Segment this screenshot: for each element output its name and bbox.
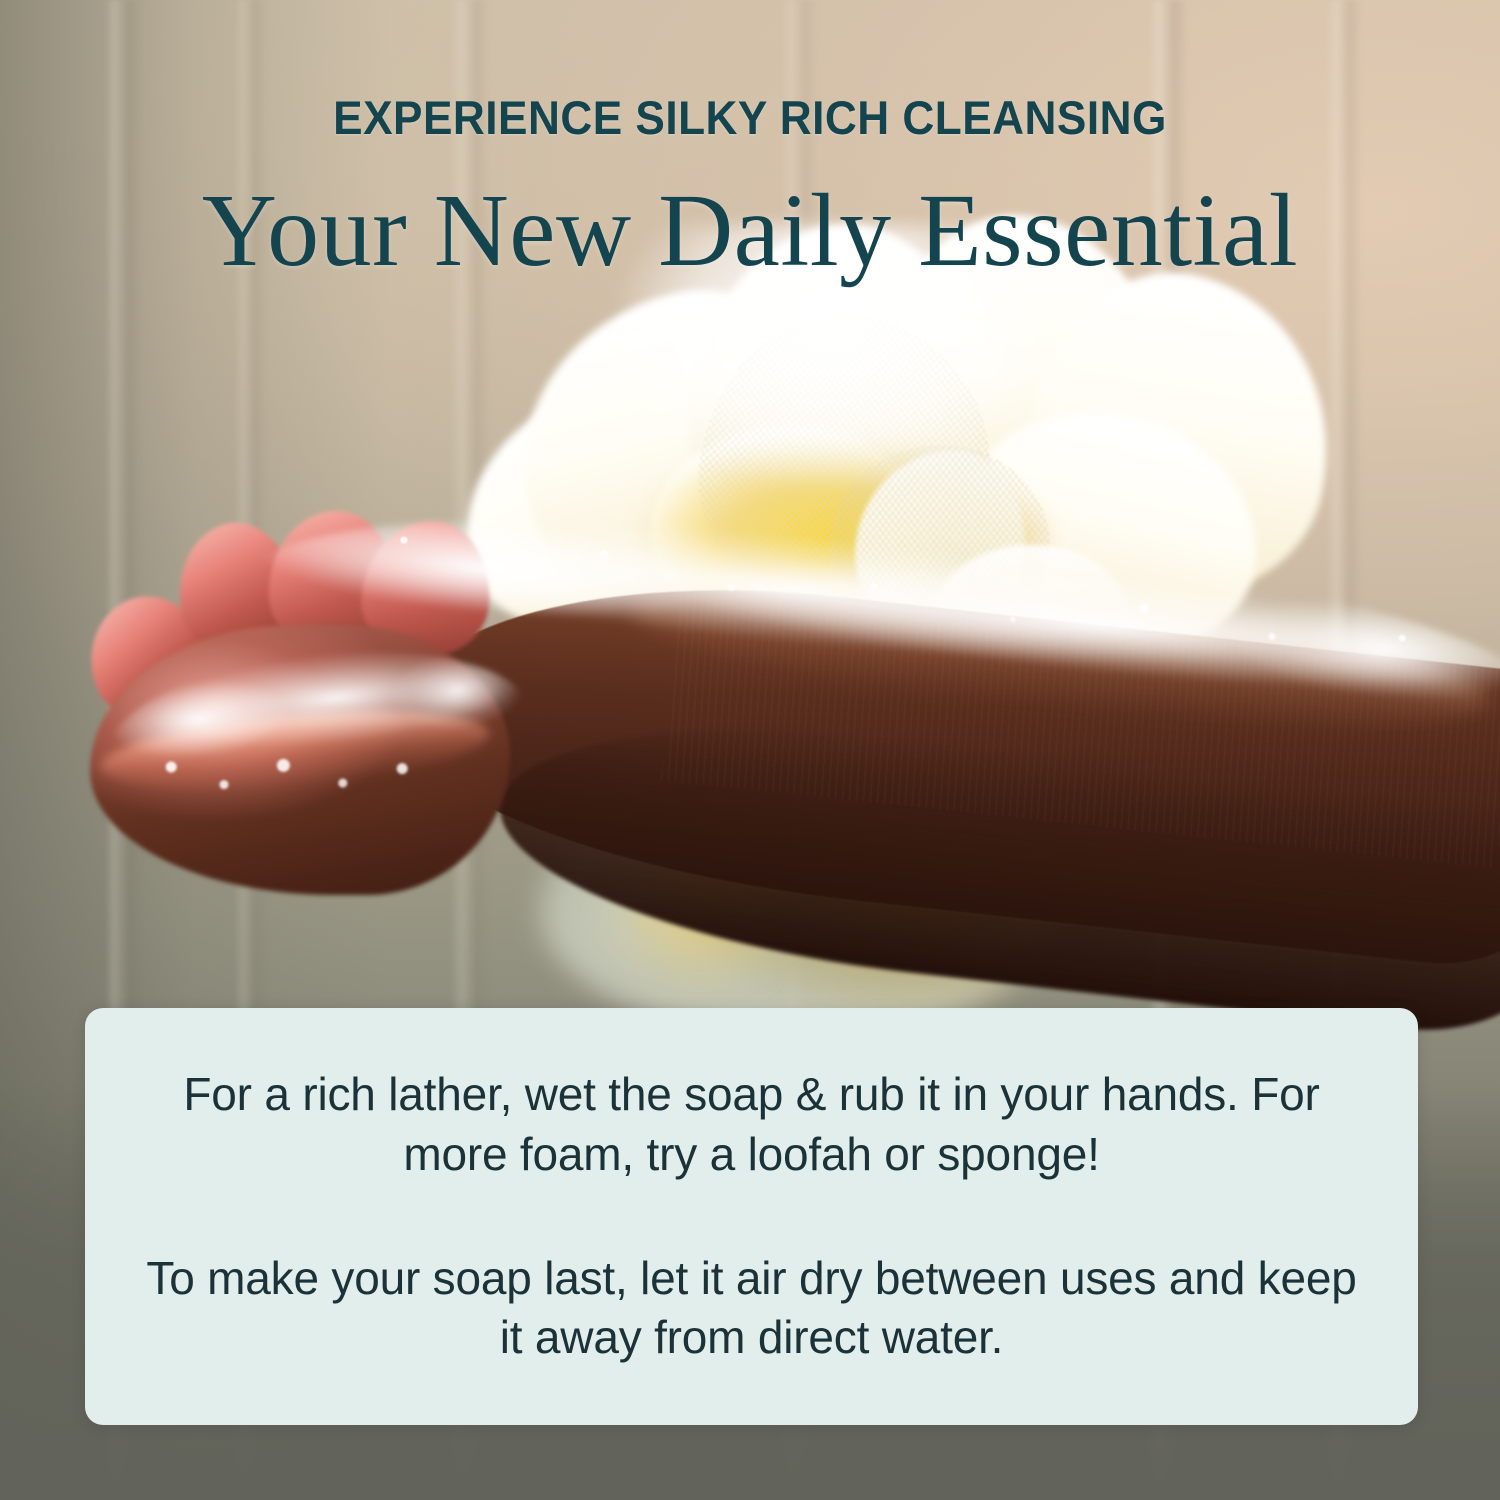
instruction-paragraph-lather: For a rich lather, wet the soap & rub it…: [131, 1065, 1372, 1185]
forearm-and-hand: [70, 505, 1500, 1025]
eyebrow-text: EXPERIENCE SILKY RICH CLEANSING: [45, 90, 1455, 145]
instruction-paragraph-care: To make your soap last, let it air dry b…: [131, 1249, 1372, 1369]
marketing-image-canvas: EXPERIENCE SILKY RICH CLEANSING Your New…: [0, 0, 1500, 1500]
instructions-card: For a rich lather, wet the soap & rub it…: [85, 1008, 1418, 1425]
hand-foam-bubbles: [125, 735, 455, 815]
page-title: Your New Daily Essential: [0, 178, 1500, 284]
